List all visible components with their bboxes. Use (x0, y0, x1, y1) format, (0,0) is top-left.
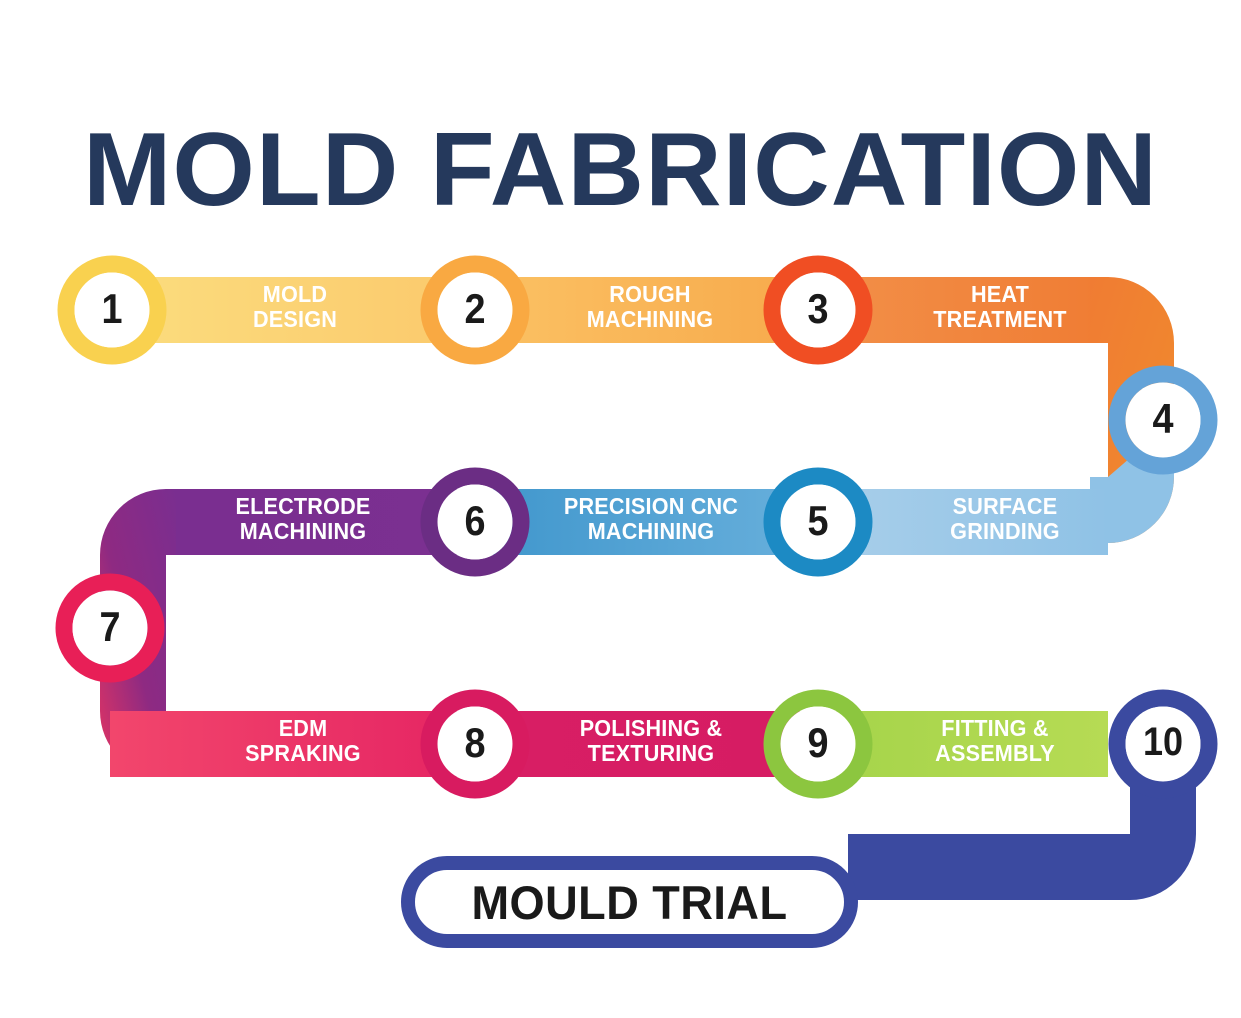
infographic-canvas: MOLD FABRICATION (0, 0, 1241, 1018)
step-face-3 (781, 273, 856, 348)
step-face-8 (438, 707, 513, 782)
step-face-2 (438, 273, 513, 348)
step-face-9 (781, 707, 856, 782)
step-face-10 (1126, 707, 1201, 782)
step-face-6 (438, 485, 513, 560)
step-face-4 (1126, 383, 1201, 458)
step-face-7 (73, 591, 148, 666)
step-face-1 (75, 273, 150, 348)
final-step-pill[interactable] (401, 856, 858, 948)
step-face-5 (781, 485, 856, 560)
band-7 (110, 711, 475, 777)
